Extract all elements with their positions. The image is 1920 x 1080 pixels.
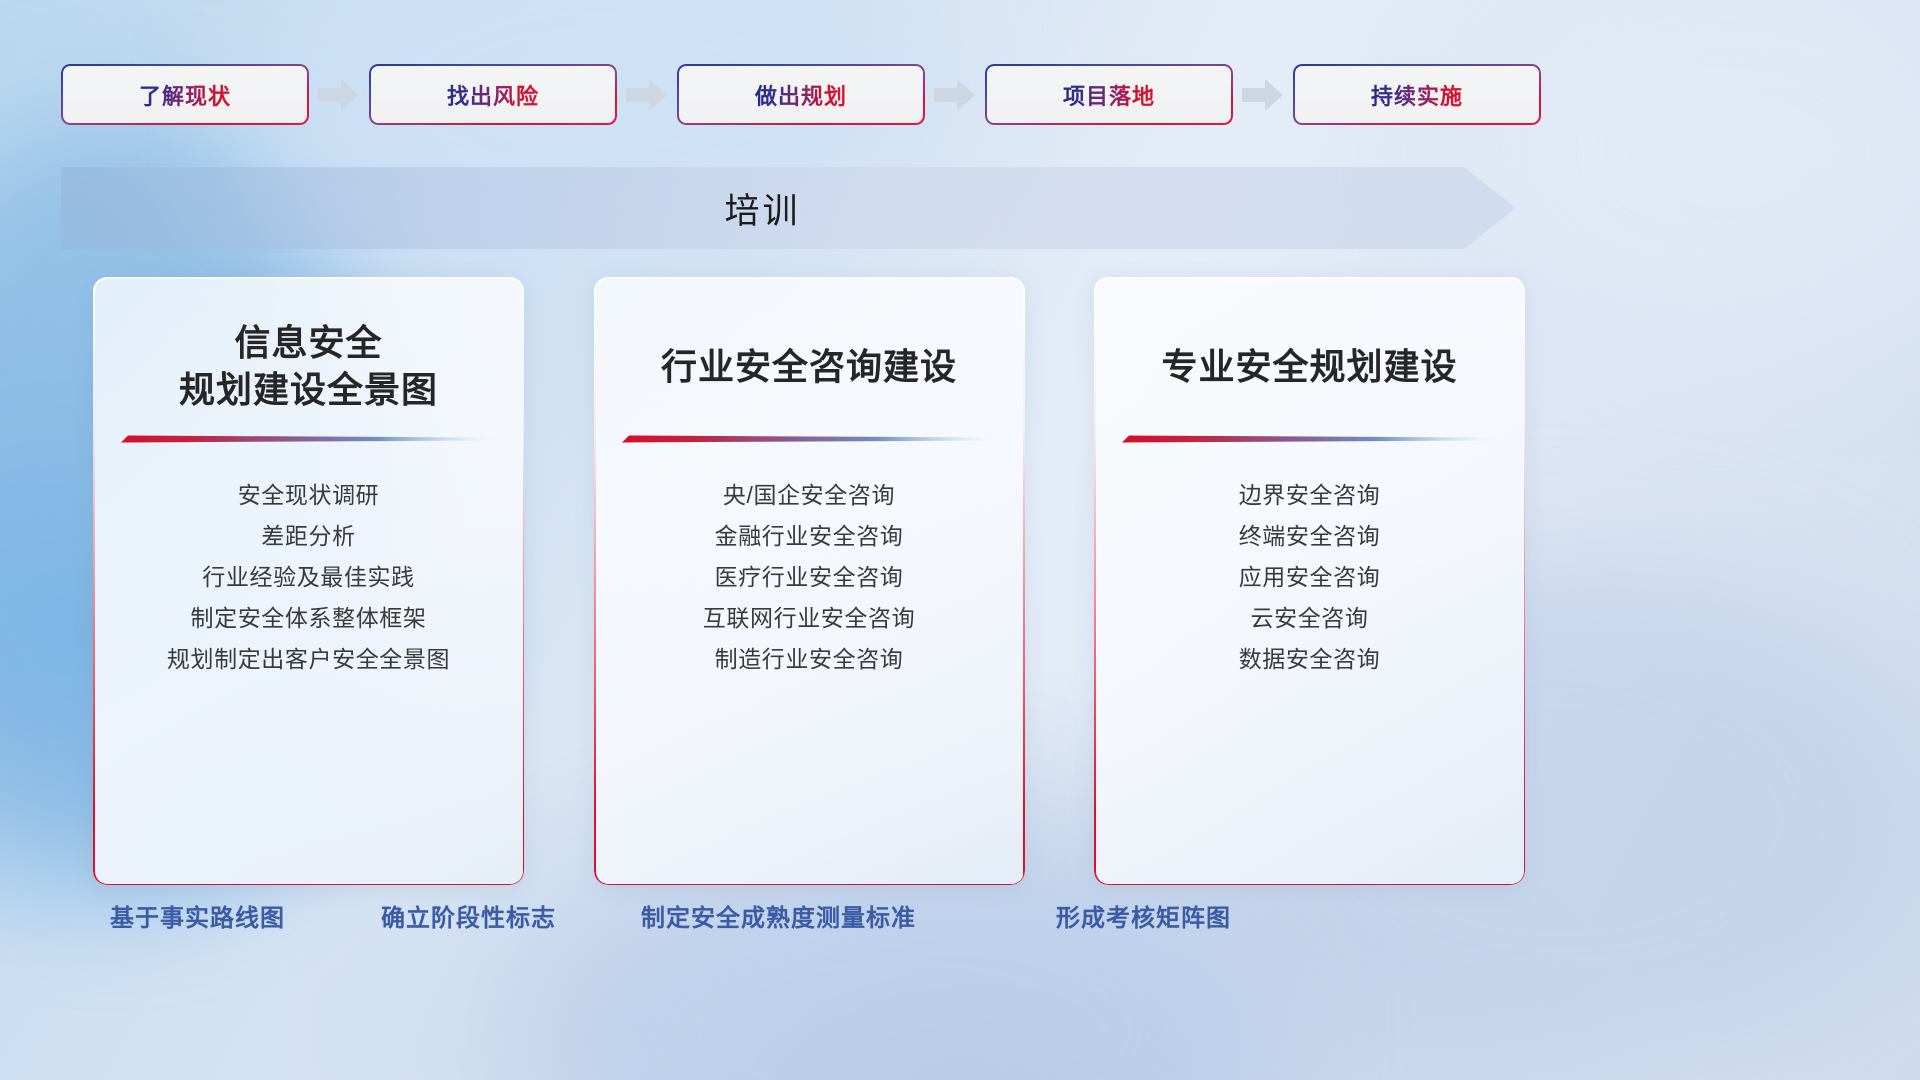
card-item-list: 安全现状调研差距分析行业经验及最佳实践制定安全体系整体框架规划制定出客户安全全景… — [121, 475, 496, 680]
card-list-item: 规划制定出客户安全全景图 — [121, 639, 496, 680]
process-step-label: 找出风险 — [447, 79, 539, 111]
card-item-list: 边界安全咨询终端安全咨询应用安全咨询云安全咨询数据安全咨询 — [1122, 475, 1497, 680]
card-divider-line — [1122, 433, 1497, 449]
process-step-label: 项目落地 — [1063, 79, 1155, 111]
card-list-item: 终端安全咨询 — [1122, 516, 1497, 557]
card-divider-line — [622, 433, 997, 449]
banner-title: 培训 — [61, 167, 1464, 249]
card-list-item: 安全现状调研 — [121, 475, 496, 516]
process-step-1[interactable]: 了解现状 — [61, 64, 309, 125]
process-step-label: 持续实施 — [1371, 79, 1463, 111]
content-card-1[interactable]: 信息安全 规划建设全景图安全现状调研差距分析行业经验及最佳实践制定安全体系整体框… — [93, 277, 524, 885]
card-list-item: 行业经验及最佳实践 — [121, 557, 496, 598]
card-list-item: 金融行业安全咨询 — [622, 516, 997, 557]
slide-canvas: 了解现状找出风险做出规划项目落地持续实施 培训 信息安全 规划建设全景图安全现状… — [0, 0, 1920, 1080]
right-arrow-icon — [318, 77, 360, 113]
content-card-2[interactable]: 行业安全咨询建设央/国企安全咨询金融行业安全咨询医疗行业安全咨询互联网行业安全咨… — [594, 277, 1025, 885]
card-inner: 行业安全咨询建设央/国企安全咨询金融行业安全咨询医疗行业安全咨询互联网行业安全咨… — [594, 277, 1025, 885]
process-step-5[interactable]: 持续实施 — [1293, 64, 1541, 125]
bottom-label-row: 基于事实路线图确立阶段性标志制定安全成熟度测量标准形成考核矩阵图 — [0, 898, 1920, 944]
card-title: 专业安全规划建设 — [1122, 319, 1497, 415]
bottom-label-4: 形成考核矩阵图 — [1056, 898, 1231, 933]
right-arrow-icon — [934, 77, 976, 113]
process-step-2[interactable]: 找出风险 — [369, 64, 617, 125]
card-list-item: 互联网行业安全咨询 — [622, 598, 997, 639]
card-list-item: 医疗行业安全咨询 — [622, 557, 997, 598]
process-step-label: 做出规划 — [755, 79, 847, 111]
right-arrow-icon — [1242, 77, 1284, 113]
card-list-item: 制造行业安全咨询 — [622, 639, 997, 680]
process-step-4[interactable]: 项目落地 — [985, 64, 1233, 125]
bottom-label-3: 制定安全成熟度测量标准 — [641, 898, 916, 933]
card-title: 信息安全 规划建设全景图 — [121, 319, 496, 415]
process-step-row: 了解现状找出风险做出规划项目落地持续实施 — [61, 64, 1511, 125]
card-list-item: 云安全咨询 — [1122, 598, 1497, 639]
card-title: 行业安全咨询建设 — [622, 319, 997, 415]
bottom-label-1: 基于事实路线图 — [110, 898, 285, 933]
card-item-list: 央/国企安全咨询金融行业安全咨询医疗行业安全咨询互联网行业安全咨询制造行业安全咨… — [622, 475, 997, 680]
card-list-item: 差距分析 — [121, 516, 496, 557]
card-row: 信息安全 规划建设全景图安全现状调研差距分析行业经验及最佳实践制定安全体系整体框… — [93, 277, 1525, 885]
card-list-item: 边界安全咨询 — [1122, 475, 1497, 516]
training-banner: 培训 — [61, 167, 1516, 249]
process-step-label: 了解现状 — [139, 79, 231, 111]
process-step-3[interactable]: 做出规划 — [677, 64, 925, 125]
background-blob — [250, 0, 950, 300]
card-divider-line — [121, 433, 496, 449]
card-list-item: 数据安全咨询 — [1122, 639, 1497, 680]
content-card-3[interactable]: 专业安全规划建设边界安全咨询终端安全咨询应用安全咨询云安全咨询数据安全咨询 — [1094, 277, 1525, 885]
right-arrow-icon — [626, 77, 668, 113]
card-list-item: 制定安全体系整体框架 — [121, 598, 496, 639]
card-inner: 专业安全规划建设边界安全咨询终端安全咨询应用安全咨询云安全咨询数据安全咨询 — [1094, 277, 1525, 885]
card-list-item: 央/国企安全咨询 — [622, 475, 997, 516]
card-list-item: 应用安全咨询 — [1122, 557, 1497, 598]
bottom-label-2: 确立阶段性标志 — [381, 898, 556, 933]
card-inner: 信息安全 规划建设全景图安全现状调研差距分析行业经验及最佳实践制定安全体系整体框… — [93, 277, 524, 885]
